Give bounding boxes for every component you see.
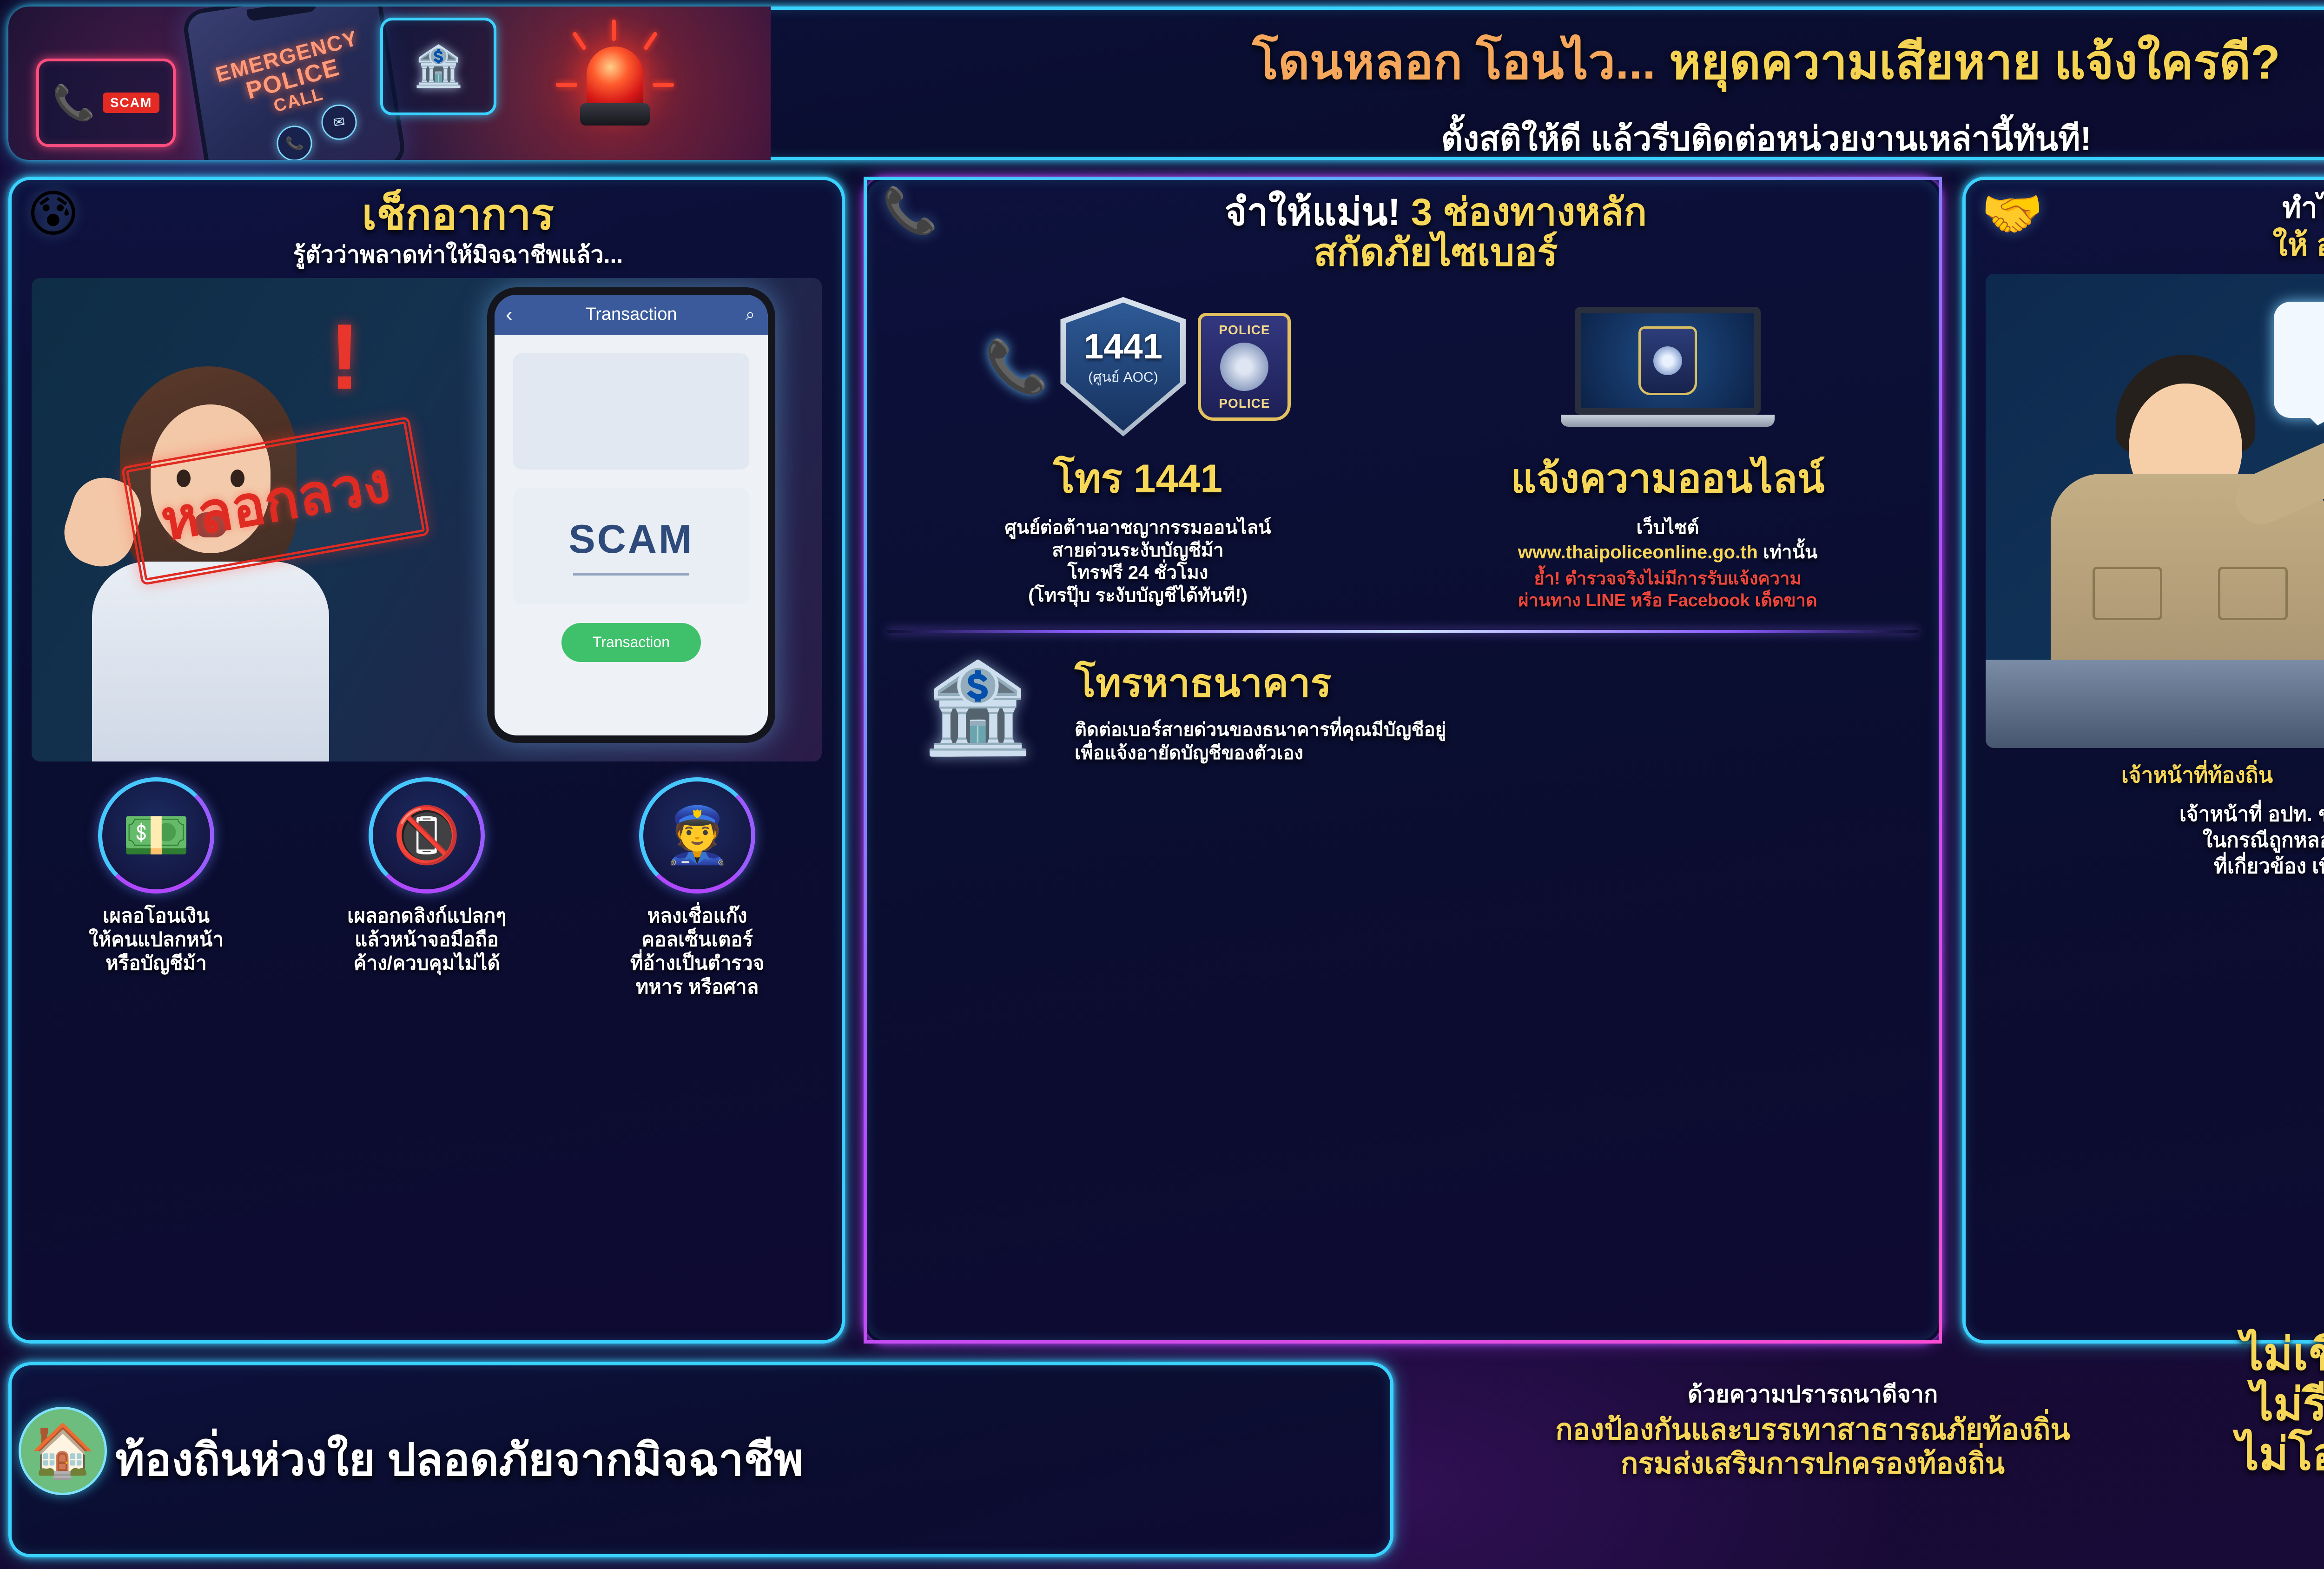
credit-line-3: กรมส่งเสริมการปกครองท้องถิ่น (1413, 1447, 2212, 1481)
emergency-phone-illustration: EMERGENCY POLICE CALL 📞 ✉ (181, 7, 407, 160)
service-counter (1986, 660, 2324, 748)
green-phone-icon: 📞 (882, 189, 938, 233)
call-1441-lines: ศูนย์ต่อต้านอาชญากรรมออนไลน์ สายด่วนระงั… (882, 516, 1393, 607)
phone-app-title: Transaction (585, 305, 677, 324)
list-item: 👮 หลงเชื่อแก๊ง คอลเซ็นเตอร์ ที่อ้างเป็นต… (568, 777, 826, 999)
aoc-shield-badge: 1441 (ศูนย์ AOC) (1060, 297, 1186, 437)
hero-banner: EMERGENCY POLICE CALL 📞 ✉ 📞 SCAM 🏦 (8, 7, 2324, 160)
siren-light-icon (580, 46, 650, 126)
call-1441-title: โทร 1441 (882, 446, 1393, 510)
list-item-caption: เผลอกดลิงก์แปลกๆ แล้วหน้าจอมือถือ ค้าง/ค… (297, 904, 556, 975)
scam-transaction-phone: ‹ Transaction ⌕ SCAM Transaction (487, 287, 775, 743)
left-panel-heading: เช็กอาการ (90, 192, 826, 238)
channel-columns: 📞 1441 (ศูนย์ AOC) POLICE POLICE โทร 144… (882, 290, 1923, 611)
phone-transaction-button: Transaction (561, 623, 701, 662)
siren-base (580, 103, 650, 126)
channel-online-report: แจ้งความออนไลน์ เว็บไซต์ www.thaipoliceo… (1412, 290, 1923, 611)
scam-chip: SCAM (103, 93, 159, 113)
exclamation-mark: ! (329, 320, 360, 394)
mid-panel-heading: จำให้แม่น! 3 ช่องทางหลัก (948, 192, 1923, 233)
list-item-caption: เผลอโอนเงิน ให้คนแปลกหน้า หรือบัญชีม้า (27, 904, 285, 975)
phone-with-red-x-icon: 📵 (369, 777, 485, 894)
online-report-title: แจ้งความออนไลน์ (1412, 446, 1923, 510)
bank-bubble: 🏦 (380, 18, 496, 115)
credit-line-2: กองป้องกันและบรรเทาสาธารณภัยท้องถิ่น (1413, 1413, 2212, 1447)
role-label-officer: เจ้าหน้าที่ท้องถิ่น (2023, 758, 2324, 792)
left-panel-subheading: รู้ตัวว่าพลาดท่าให้มิจฉาชีพแล้ว... (90, 242, 826, 268)
call-1441-line: (โทรปุ๊บ ระงับบัญชีได้ทันที!) (882, 584, 1393, 607)
section-divider (887, 630, 1919, 633)
list-item: 📵 เผลอกดลิงก์แปลกๆ แล้วหน้าจอมือถือ ค้าง… (297, 777, 556, 999)
siren-dome (587, 46, 643, 107)
hero-illustration: EMERGENCY POLICE CALL 📞 ✉ 📞 SCAM 🏦 (8, 7, 771, 160)
hero-text-block: โดนหลอก โอนไว... หยุดความเสียหาย แจ้งใคร… (771, 4, 2324, 163)
scam-victim-illustration: ! ‹ Transaction ⌕ SCAM Transaction หลอกล… (32, 278, 822, 761)
anxious-face-with-sweat-emoji: 😰 (27, 189, 79, 239)
list-item-caption: หลงเชื่อแก๊ง คอลเซ็นเตอร์ ที่อ้างเป็นตำร… (568, 904, 826, 999)
left-panel-header: 😰 เช็กอาการ รู้ตัวว่าพลาดท่าให้มิจฉาชีพแ… (27, 192, 826, 268)
phone-scam-card: SCAM (513, 488, 749, 604)
footer-credits: ด้วยความปรารถนาดีจาก กองป้องกันและบรรเทา… (1413, 1376, 2212, 1481)
magnifier-icon: ⌕ (746, 305, 755, 324)
laptop-illustration (1412, 290, 1923, 444)
police-seal (1220, 343, 1268, 391)
money-in-hand-icon: 💵 (98, 777, 214, 894)
channel-call-bank: 🏦 โทรหาธนาคาร ติดต่อเบอร์สายด่วนของธนาคา… (882, 651, 1923, 765)
bank-title: โทรหาธนาคาร (1075, 651, 1905, 714)
call-1441-line: สายด่วนระงับบัญชีม้า (882, 539, 1393, 562)
laptop-cyber-police-icon (1565, 297, 1770, 437)
scam-call-bubble: 📞 SCAM (36, 59, 176, 147)
online-report-warning-2: ผ่านทาง LINE หรือ Facebook เด็ดขาด (1412, 590, 1923, 611)
house-icon: 🏠 (19, 1407, 107, 1495)
credit-line-1: ด้วยความปรารถนาดีจาก (1413, 1376, 2212, 1413)
mid-heading-yellow: 3 ช่องทางหลัก (1400, 191, 1647, 233)
envelope-icon: ✉ (319, 102, 359, 142)
channel-call-1441: 📞 1441 (ศูนย์ AOC) POLICE POLICE โทร 144… (882, 290, 1393, 611)
symptom-list: 💵 เผลอโอนเงิน ให้คนแปลกหน้า หรือบัญชีม้า… (27, 777, 826, 999)
infographic-canvas: EMERGENCY POLICE CALL 📞 ✉ 📞 SCAM 🏦 (0, 0, 2324, 1569)
report-url-suffix: เท่านั้น (1758, 542, 1817, 563)
right-panel-heading-yellow: ให้ อปท. ช่วยแนะนำ (2053, 228, 2324, 262)
footer-tagline: ท้องถิ่นห่วงใย ปลอดภัยจากมิจฉาชีพ (115, 1424, 803, 1495)
footer-tagline-bar: 🏠 ท้องถิ่นห่วงใย ปลอดภัยจากมิจฉาชีพ (8, 1362, 1393, 1557)
fake-police-caller-icon: 👮 (639, 777, 755, 894)
local-office-illustration: สำนักงานเทศบาล / อบต. 1441 (ศูนย์ AOC) (1986, 274, 2324, 748)
mid-heading-white: จำให้แม่น! (1224, 191, 1400, 233)
slogan-line-3: ไม่โอน (2203, 1430, 2324, 1480)
page-title-part2: หยุดความเสียหาย แจ้งใครดี? (1656, 35, 2280, 89)
phone-handset-icon: 📞 (53, 83, 95, 123)
chevron-left-icon: ‹ (506, 303, 513, 326)
panel-local-help: 🤝 ทำไม่เป็น ไม่แน่ใจ... ให้ อปท. ช่วยแนะ… (1962, 177, 2324, 1344)
online-report-url-row: www.thaipoliceonline.go.th เท่านั้น (1412, 541, 1923, 564)
woman-body (92, 562, 329, 761)
bank-line-1: ติดต่อเบอร์สายด่วนของธนาคารที่คุณมีบัญชี… (1075, 718, 1905, 741)
role-labels: เจ้าหน้าที่ท้องถิ่น ผู้สูงอายุ (1981, 758, 2324, 792)
call-1441-line: โทรฟรี 24 ชั่วโมง (882, 562, 1393, 584)
phone-app-bar: ‹ Transaction ⌕ (495, 295, 768, 335)
right-panel-header: 🤝 ทำไม่เป็น ไม่แน่ใจ... ให้ อปท. ช่วยแนะ… (1981, 192, 2324, 262)
phone-ring-icon: 📞 (274, 123, 315, 160)
page-title: โดนหลอก โอนไว... หยุดความเสียหาย แจ้งใคร… (771, 36, 2324, 88)
report-website-url[interactable]: www.thaipoliceonline.go.th (1518, 542, 1758, 563)
handshake-emoji: 🤝 (1981, 189, 2043, 239)
shield-number: 1441 (1084, 329, 1162, 364)
footer-slogan: ไม่เชื่อ ไม่รีบ ไม่โอน (2203, 1330, 2324, 1480)
slogan-line-1: ไม่เชื่อ (2203, 1330, 2324, 1380)
call-1441-badges: 📞 1441 (ศูนย์ AOC) POLICE POLICE (882, 290, 1393, 444)
phone-notch (246, 7, 317, 22)
online-report-warning-1: ย้ำ! ตำรวจจริงไม่มีการรับแจ้งความ (1412, 568, 1923, 589)
cyber-police-badge (1638, 326, 1697, 395)
call-1441-line: ศูนย์ต่อต้านอาชญากรรมออนไลน์ (882, 516, 1393, 539)
police-badge-bottom: POLICE (1219, 396, 1270, 411)
police-badge-top: POLICE (1219, 323, 1270, 338)
bank-icon: 🏦 (413, 46, 463, 86)
right-panel-heading-white: ทำไม่เป็น ไม่แน่ใจ... (2053, 192, 2324, 224)
bank-building-icon: 🏦 (901, 664, 1054, 752)
online-report-label: เว็บไซต์ (1412, 516, 1923, 539)
phone-scam-label: SCAM (568, 516, 693, 563)
page-subtitle: ตั้งสติให้ดี แล้วรีบติดต่อหน่วยงานเหล่าน… (771, 121, 2324, 158)
page-title-part1: โดนหลอก โอนไว... (1252, 35, 1656, 89)
slogan-line-2: ไม่รีบ (2203, 1380, 2324, 1430)
police-badge-icon: POLICE POLICE (1198, 313, 1291, 421)
shield-sub: (ศูนย์ AOC) (1088, 366, 1158, 388)
right-panel-body: เจ้าหน้าที่ อปท. ช่วยให้คำแนะนำแก่ผู้สูง… (1981, 801, 2324, 880)
bank-line-2: เพื่อแจ้งอายัดบัญชีของตัวเอง (1075, 741, 1905, 765)
mid-panel-heading-line2: สกัดภัยไซเบอร์ (948, 233, 1923, 273)
phone-placeholder-card (513, 353, 749, 470)
panel-three-channels: 📞 จำให้แม่น! 3 ช่องทางหลัก สกัดภัยไซเบอร… (864, 177, 1942, 1344)
mid-panel-header: 📞 จำให้แม่น! 3 ช่องทางหลัก สกัดภัยไซเบอร… (882, 192, 1923, 273)
blue-phone-ringing-icon: 📞 (985, 337, 1049, 397)
list-item: 💵 เผลอโอนเงิน ให้คนแปลกหน้า หรือบัญชีม้า (27, 777, 285, 999)
panel-symptoms: 😰 เช็กอาการ รู้ตัวว่าพลาดท่าให้มิจฉาชีพแ… (8, 177, 845, 1344)
